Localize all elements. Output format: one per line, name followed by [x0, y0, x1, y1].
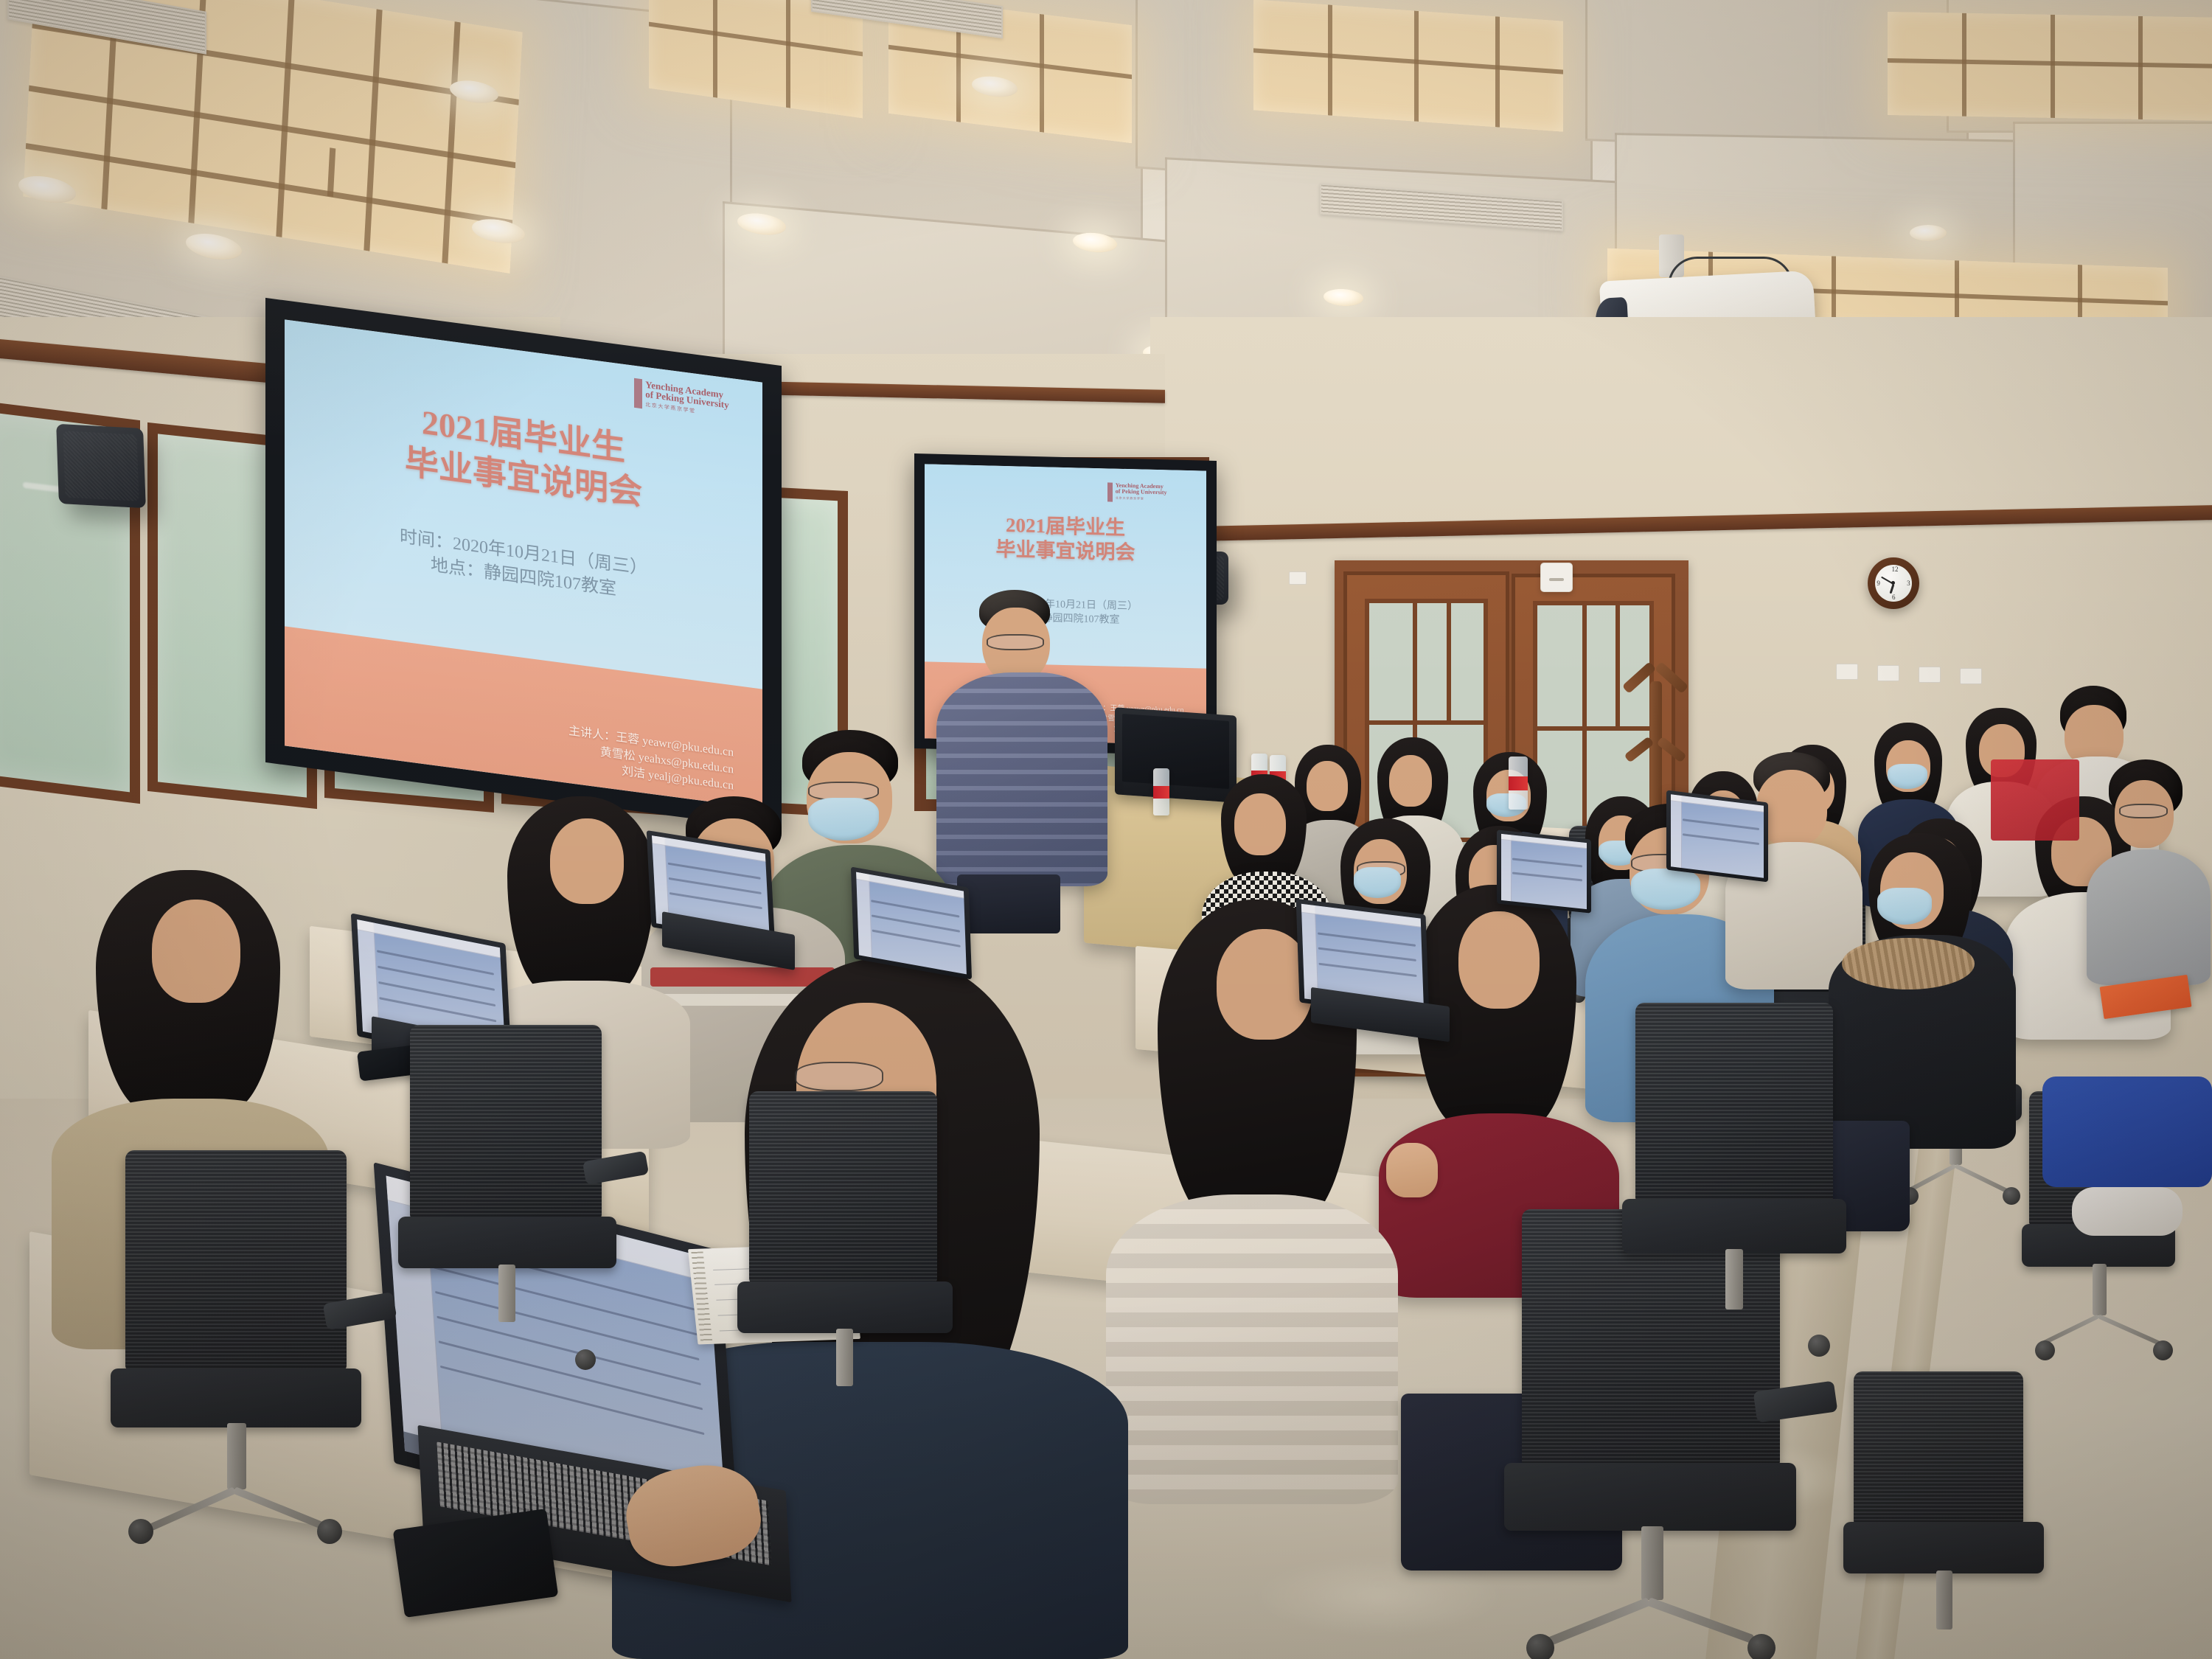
- thermostat-panel[interactable]: [1540, 563, 1573, 592]
- clock-numeral: 12: [1891, 566, 1898, 573]
- light-switch-plate[interactable]: [1289, 571, 1307, 585]
- clock-face: 12 3 6 9: [1875, 565, 1912, 602]
- chair[interactable]: [1843, 1371, 2065, 1659]
- wall-speaker-left: [56, 424, 146, 508]
- light-switch-plate[interactable]: [1919, 667, 1941, 683]
- yenching-academy-logo-secondary: Yenching Academy of Peking University 北京…: [1107, 482, 1167, 503]
- ceiling-light-panel: [1888, 12, 2212, 121]
- laptop[interactable]: [1666, 796, 1784, 892]
- clock-numeral: 6: [1892, 594, 1896, 601]
- foreground-attendee-glasses[interactable]: [795, 1062, 883, 1091]
- chair[interactable]: [398, 1025, 641, 1371]
- slide-title-secondary: 2021届毕业生 毕业事宜说明会: [925, 512, 1206, 567]
- yenching-academy-logo: Yenching Academy of Peking University 北京…: [634, 378, 728, 420]
- main-projection-screen-frame: Yenching Academy of Peking University 北京…: [265, 298, 782, 830]
- downlight: [1910, 225, 1947, 241]
- attendee: [2087, 759, 2212, 981]
- laptop[interactable]: [1497, 835, 1607, 923]
- water-bottle: [1153, 768, 1169, 815]
- clock-numeral: 3: [1907, 580, 1910, 587]
- wall-clock: 12 3 6 9: [1868, 557, 1919, 609]
- chair[interactable]: [111, 1150, 391, 1534]
- classroom-photo-scene: Yenching Academy of Peking University 北京…: [0, 0, 2212, 1659]
- chair[interactable]: [1622, 1003, 1873, 1357]
- attendee-puffer-jacket: [1106, 1194, 1398, 1504]
- attendee: [2042, 1032, 2212, 1253]
- clock-numeral: 9: [1877, 580, 1880, 587]
- laptop[interactable]: [649, 841, 796, 959]
- clock-center-pin: [1891, 581, 1895, 585]
- attendee-shoe: [2072, 1187, 2183, 1236]
- presenter-torso: [936, 672, 1107, 886]
- logo-line-cn: 北京大学燕京学堂: [1116, 495, 1167, 501]
- presentation-slide-main: Yenching Academy of Peking University 北京…: [285, 319, 762, 808]
- ceiling-light-panel: [1253, 0, 1563, 132]
- attendee-trousers: [2042, 1077, 2212, 1187]
- logo-line-2: of Peking University: [1116, 489, 1167, 496]
- light-switch-plate[interactable]: [1877, 665, 1899, 681]
- main-projection-screen-surface: Yenching Academy of Peking University 北京…: [285, 319, 762, 808]
- laptop[interactable]: [1298, 907, 1453, 1032]
- water-bottle: [1509, 757, 1528, 810]
- laptop[interactable]: [852, 877, 992, 988]
- slide-meta: 时间：2020年10月21日（周三） 地点：静园四院107教室: [285, 509, 762, 622]
- light-switch-plate[interactable]: [1960, 668, 1982, 684]
- slide-contacts: 主讲人：王蓉 yeawr@pku.edu.cn 黄雪松 yeahxs@pku.e…: [568, 723, 734, 796]
- light-switch-plate[interactable]: [1836, 664, 1858, 680]
- chair[interactable]: [737, 1091, 981, 1438]
- red-tote-bag: [1991, 759, 2079, 841]
- clock-hour-hand: [1890, 584, 1895, 594]
- presenter-glasses: [987, 634, 1044, 650]
- attendee-fur-hood: [1842, 938, 1975, 990]
